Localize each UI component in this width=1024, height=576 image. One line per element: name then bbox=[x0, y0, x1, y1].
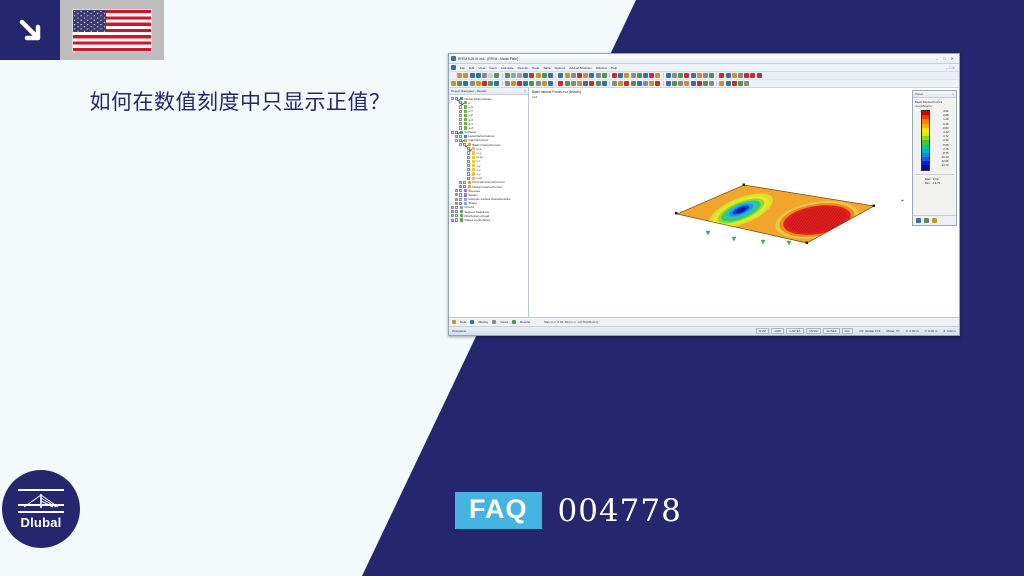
expand-icon[interactable]: + bbox=[451, 219, 454, 222]
faq-footer: FAQ 004778 bbox=[455, 492, 682, 529]
tree-checkbox[interactable] bbox=[459, 193, 462, 196]
status-tab-display[interactable]: Display bbox=[478, 320, 488, 324]
toolbar-button[interactable] bbox=[666, 73, 671, 78]
dlubal-logo: Dlubal bbox=[2, 470, 80, 548]
toolbar-button[interactable] bbox=[691, 81, 696, 86]
toolbar-button[interactable] bbox=[719, 81, 724, 86]
toolbar-button[interactable] bbox=[732, 81, 737, 86]
toolbar-button[interactable] bbox=[505, 81, 510, 86]
slide: 如何在数值刻度中只显示正值？ Dlubal FAQ 004778 RFEM 5.… bbox=[0, 0, 1024, 576]
status-toggle[interactable]: GRID bbox=[771, 328, 784, 334]
tree-checkbox[interactable] bbox=[459, 110, 462, 113]
toolbar-button[interactable] bbox=[624, 81, 629, 86]
menu-item-view[interactable]: View bbox=[478, 66, 485, 70]
status-toggle[interactable]: SNAP bbox=[756, 328, 770, 334]
tree-item[interactable]: +Values on Surfaces bbox=[451, 218, 528, 222]
toolbar-separator bbox=[502, 73, 503, 78]
toolbar-button[interactable] bbox=[666, 81, 671, 86]
toolbar-button[interactable] bbox=[558, 81, 563, 86]
toolbar-button[interactable] bbox=[565, 73, 570, 78]
toolbar-separator bbox=[716, 73, 717, 78]
toolbar-button[interactable] bbox=[596, 81, 601, 86]
toolbar-button[interactable] bbox=[678, 81, 683, 86]
toolbar-button[interactable] bbox=[703, 81, 708, 86]
panel-title: Panel bbox=[915, 92, 923, 96]
status-toggle[interactable]: DXF bbox=[842, 328, 854, 334]
min-label: Min : bbox=[925, 181, 931, 185]
toolbar-button[interactable] bbox=[612, 73, 617, 78]
toolbar-button[interactable] bbox=[505, 73, 510, 78]
arrow-down-right-icon bbox=[15, 15, 45, 45]
toolbar-button[interactable] bbox=[624, 73, 629, 78]
collapse-icon[interactable]: - bbox=[459, 143, 462, 146]
status-coordinate: X: 0.00 m bbox=[906, 329, 919, 333]
status-coordinate: Z: 0.00 m bbox=[943, 329, 956, 333]
close-icon[interactable]: ✕ bbox=[951, 57, 954, 61]
toolbar-button[interactable] bbox=[577, 81, 582, 86]
toolbar-button[interactable] bbox=[542, 73, 547, 78]
data-tab-icon bbox=[452, 320, 456, 324]
expand-icon[interactable]: + bbox=[455, 193, 458, 196]
expand-icon[interactable]: + bbox=[451, 214, 454, 217]
toolbar-button[interactable] bbox=[583, 81, 588, 86]
collapse-icon[interactable]: - bbox=[451, 97, 454, 100]
toolbar-button[interactable] bbox=[463, 81, 468, 86]
toolbar-button[interactable] bbox=[511, 81, 516, 86]
toolbar-button[interactable] bbox=[684, 73, 689, 78]
tree-item-icon bbox=[460, 218, 464, 221]
tree-checkbox[interactable] bbox=[459, 135, 462, 138]
results-tab-icon bbox=[512, 320, 516, 324]
status-bar-tabs[interactable]: Data Display Views Results Max m-x: 4.02… bbox=[449, 317, 959, 326]
tree-checkbox[interactable] bbox=[455, 214, 458, 217]
toolbar-button[interactable] bbox=[649, 73, 654, 78]
menu-item-window[interactable]: Window bbox=[596, 66, 607, 70]
tree-checkbox[interactable] bbox=[455, 206, 458, 209]
display-tab-icon bbox=[470, 320, 474, 324]
color-scale-labels: 4.022.881.28-0.26-0.84-1.42-3.72-4.30-5.… bbox=[933, 110, 949, 171]
toolbar-button[interactable] bbox=[672, 81, 677, 86]
workplane-label: Workplane bbox=[452, 329, 466, 333]
window-controls[interactable]: – □ ✕ bbox=[936, 57, 957, 61]
logo-text: Dlubal bbox=[21, 515, 62, 530]
min-row: Min : -13.70 bbox=[915, 181, 954, 186]
toolbar-button[interactable] bbox=[738, 73, 743, 78]
toolbar-button[interactable] bbox=[589, 73, 594, 78]
tree-item-icon bbox=[464, 110, 468, 113]
toolbar-button[interactable] bbox=[494, 81, 499, 86]
status-coordinate: CS: Global XYZ bbox=[859, 329, 880, 333]
tree-checkbox[interactable] bbox=[463, 185, 466, 188]
expand-icon[interactable]: + bbox=[459, 181, 462, 184]
min-max-box: Max : 4.02 Min : -13.70 bbox=[915, 174, 954, 186]
toolbar-button[interactable] bbox=[536, 81, 541, 86]
faq-number: 004778 bbox=[558, 493, 682, 529]
toolbar-button[interactable] bbox=[602, 73, 607, 78]
tree-item-icon bbox=[464, 189, 468, 192]
flag-badge bbox=[60, 0, 164, 60]
toolbar-button[interactable] bbox=[488, 73, 493, 78]
toolbar-button[interactable] bbox=[596, 73, 601, 78]
toolbar-button[interactable] bbox=[643, 81, 648, 86]
panel-result-unit: m-x [kNm/m] bbox=[915, 104, 954, 108]
toolbar-button[interactable] bbox=[457, 73, 462, 78]
status-tab-results[interactable]: Results bbox=[520, 320, 530, 324]
chart-icon[interactable] bbox=[932, 218, 937, 223]
toolbar-separator bbox=[502, 81, 503, 86]
tree-checkbox[interactable] bbox=[459, 114, 462, 117]
tree-item-icon bbox=[460, 97, 464, 100]
results-panel[interactable]: Panel × Basic Internal Forces m-x [kNm/m… bbox=[912, 90, 957, 226]
model-viewport[interactable]: Basic Internal Forces m-x [kNm/m] LC1 bbox=[529, 88, 959, 317]
tree-item-icon bbox=[472, 164, 476, 167]
tree-item-icon bbox=[472, 156, 476, 159]
toolbar-button[interactable] bbox=[457, 81, 462, 86]
tree-item-icon bbox=[464, 122, 468, 125]
rfem-window: RFEM 5.25.01 x64 - [RFEM - Model Plate] … bbox=[448, 53, 960, 336]
status-tab-data[interactable]: Data bbox=[460, 320, 466, 324]
menu-item-calculate[interactable]: Calculate bbox=[501, 66, 514, 70]
tree-checkbox[interactable] bbox=[455, 218, 458, 221]
toolbar-button[interactable] bbox=[655, 81, 660, 86]
window-title: RFEM 5.25.01 x64 - [RFEM - Model Plate] bbox=[458, 57, 518, 61]
toolbar-button[interactable] bbox=[703, 73, 708, 78]
toolbar-button[interactable] bbox=[655, 73, 660, 78]
expand-icon[interactable]: + bbox=[455, 202, 458, 205]
toolbar-button[interactable] bbox=[618, 73, 623, 78]
color-icon[interactable] bbox=[924, 218, 929, 223]
menu-app-icon bbox=[451, 65, 456, 70]
expand-icon[interactable]: + bbox=[455, 135, 458, 138]
app-body: Project Navigator - Results × -Global De… bbox=[449, 88, 959, 317]
tree-item-icon bbox=[464, 198, 468, 201]
toolbar-separator bbox=[716, 81, 717, 86]
us-flag-icon bbox=[73, 10, 151, 51]
toolbar-button[interactable] bbox=[637, 81, 642, 86]
status-toggles[interactable]: SNAPGRIDCARTESOSNAPGLINESDXF bbox=[756, 328, 854, 334]
toolbar-button[interactable] bbox=[631, 81, 636, 86]
collapse-icon[interactable]: - bbox=[455, 139, 458, 142]
toolbar-button[interactable] bbox=[523, 81, 528, 86]
toolbar-button[interactable] bbox=[691, 73, 696, 78]
toolbar-button[interactable] bbox=[757, 73, 762, 78]
tree-checkbox[interactable] bbox=[467, 160, 470, 163]
arrow-badge bbox=[0, 0, 60, 60]
toolbar-separator bbox=[609, 73, 610, 78]
tree-checkbox[interactable] bbox=[459, 126, 462, 129]
toolbar-button[interactable] bbox=[529, 81, 534, 86]
toolbar-button[interactable] bbox=[618, 81, 623, 86]
toolbar-button[interactable] bbox=[577, 73, 582, 78]
color-scale[interactable]: 4.022.881.28-0.26-0.84-1.42-3.72-4.30-5.… bbox=[915, 110, 954, 171]
navigator-close-icon[interactable]: × bbox=[524, 89, 526, 93]
navigator-header: Project Navigator - Results × bbox=[449, 88, 528, 95]
status-toggle[interactable]: CARTES bbox=[786, 328, 803, 334]
menu-item-tools[interactable]: Tools bbox=[532, 66, 539, 70]
tree-item-icon bbox=[460, 210, 464, 213]
color-scale-segment bbox=[922, 165, 929, 169]
tree-item-icon bbox=[472, 177, 476, 180]
toolbar-button[interactable] bbox=[558, 73, 563, 78]
toolbar-button[interactable] bbox=[744, 81, 749, 86]
toolbar-button[interactable] bbox=[536, 73, 541, 78]
tree-checkbox[interactable] bbox=[459, 198, 462, 201]
status-toggle[interactable]: GLINES bbox=[823, 328, 839, 334]
surface-contour-plot bbox=[529, 88, 954, 317]
expand-icon[interactable]: + bbox=[459, 185, 462, 188]
bridge-truss-icon bbox=[18, 489, 64, 513]
menu-item-insert[interactable]: Insert bbox=[489, 66, 497, 70]
expand-icon[interactable]: + bbox=[451, 210, 454, 213]
toolbar-button[interactable] bbox=[517, 81, 522, 86]
expand-icon[interactable]: + bbox=[451, 206, 454, 209]
toolbar-button[interactable] bbox=[684, 81, 689, 86]
tree-item-icon bbox=[472, 160, 476, 163]
tree-checkbox[interactable] bbox=[467, 147, 470, 150]
project-navigator[interactable]: Project Navigator - Results × -Global De… bbox=[449, 88, 529, 317]
toolbar-button[interactable] bbox=[482, 81, 487, 86]
toolbar-button[interactable] bbox=[494, 73, 499, 78]
toolbar-separator bbox=[609, 81, 610, 86]
status-coordinates: CS: Global XYZPlane: XYX: 0.00 mY: 0.00 … bbox=[859, 329, 956, 333]
tree-checkbox[interactable] bbox=[467, 151, 470, 154]
toolbar-button[interactable] bbox=[517, 73, 522, 78]
status-tab-views[interactable]: Views bbox=[500, 320, 508, 324]
color-scale-bar[interactable] bbox=[921, 110, 930, 171]
tree-checkbox[interactable] bbox=[459, 118, 462, 121]
toolbar-button[interactable] bbox=[672, 73, 677, 78]
maximize-icon[interactable]: □ bbox=[943, 57, 945, 61]
tree-checkbox[interactable] bbox=[459, 139, 462, 142]
panel-body: Basic Internal Forces m-x [kNm/m] 4.022.… bbox=[913, 98, 956, 215]
tree-checkbox[interactable] bbox=[467, 172, 470, 175]
tree-item-icon bbox=[464, 114, 468, 117]
toolbar-button[interactable] bbox=[511, 73, 516, 78]
toolbar-button[interactable] bbox=[451, 73, 456, 78]
tree-checkbox[interactable] bbox=[459, 122, 462, 125]
tree-checkbox[interactable] bbox=[459, 105, 462, 108]
tree-item-icon bbox=[468, 181, 472, 184]
app-icon bbox=[451, 56, 456, 61]
tree-item-icon bbox=[468, 185, 472, 188]
toolbar-button[interactable] bbox=[726, 73, 731, 78]
toolbar-button[interactable] bbox=[631, 73, 636, 78]
status-toggle[interactable]: OSNAP bbox=[806, 328, 822, 334]
tree-checkbox[interactable] bbox=[467, 168, 470, 171]
tree-checkbox[interactable] bbox=[463, 143, 466, 146]
tree-item-icon bbox=[460, 206, 464, 209]
toolbar-button[interactable] bbox=[678, 73, 683, 78]
panel-close-icon[interactable]: × bbox=[952, 92, 954, 96]
menu-item-addon-modules[interactable]: Add-on Modules bbox=[569, 66, 592, 70]
toolbar-button[interactable] bbox=[719, 73, 724, 78]
menu-item-file[interactable]: File bbox=[460, 66, 465, 70]
tree-checkbox[interactable] bbox=[459, 189, 462, 192]
tree-checkbox[interactable] bbox=[463, 181, 466, 184]
status-bar[interactable]: Workplane SNAPGRIDCARTESOSNAPGLINESDXF C… bbox=[449, 326, 959, 334]
toolbar-button[interactable] bbox=[476, 73, 481, 78]
toolbar-button[interactable] bbox=[482, 73, 487, 78]
toolbar-button[interactable] bbox=[529, 73, 534, 78]
tree-item-icon bbox=[460, 214, 464, 217]
toolbar-button[interactable] bbox=[709, 73, 714, 78]
tree-item-icon bbox=[464, 118, 468, 121]
toolbar-button[interactable] bbox=[732, 73, 737, 78]
max-value: 4.02 bbox=[933, 177, 939, 181]
navigator-tree[interactable]: -Global Deformationsuu-Xu-Yu-Zφ-Xφ-Yφ-Z-… bbox=[449, 95, 528, 222]
toolbar-button[interactable] bbox=[542, 81, 547, 86]
toolbar-button[interactable] bbox=[523, 73, 528, 78]
status-coordinate: Plane: XY bbox=[886, 329, 899, 333]
expand-icon[interactable]: + bbox=[455, 198, 458, 201]
max-label: Max : bbox=[925, 177, 932, 181]
toolbar-primary[interactable] bbox=[449, 72, 959, 80]
faq-badge: FAQ bbox=[455, 492, 542, 529]
tree-checkbox[interactable] bbox=[459, 202, 462, 205]
status-coordinate: Y: 0.00 m bbox=[925, 329, 938, 333]
minimize-icon[interactable]: – bbox=[936, 57, 938, 61]
menu-item-table[interactable]: Table bbox=[543, 66, 550, 70]
toolbar-button[interactable] bbox=[571, 73, 576, 78]
menu-item-help[interactable]: Help bbox=[611, 66, 617, 70]
toolbar-button[interactable] bbox=[488, 81, 493, 86]
expand-icon[interactable]: + bbox=[455, 189, 458, 192]
toolbar-button[interactable] bbox=[744, 73, 749, 78]
tree-checkbox[interactable] bbox=[459, 101, 462, 104]
toolbar-button[interactable] bbox=[709, 81, 714, 86]
toolbar-button[interactable] bbox=[649, 81, 654, 86]
tree-item-icon bbox=[464, 135, 468, 138]
tree-item-icon bbox=[472, 147, 476, 150]
min-value: -13.70 bbox=[932, 181, 940, 185]
tree-checkbox[interactable] bbox=[455, 210, 458, 213]
toolbar-button[interactable] bbox=[583, 73, 588, 78]
toolbar-separator bbox=[555, 81, 556, 86]
panel-footer[interactable] bbox=[913, 215, 956, 225]
menu-item-options[interactable]: Options bbox=[555, 66, 566, 70]
panel-header: Panel × bbox=[913, 91, 956, 98]
page-title: 如何在数值刻度中只显示正值？ bbox=[60, 86, 420, 116]
mdi-controls[interactable]: – □ ✕ bbox=[946, 66, 957, 70]
tree-checkbox[interactable] bbox=[467, 177, 470, 180]
toolbar-button[interactable] bbox=[470, 73, 475, 78]
toolbar-button[interactable] bbox=[612, 81, 617, 86]
toolbar-button[interactable] bbox=[548, 73, 553, 78]
views-tab-icon bbox=[492, 320, 496, 324]
pointer-cursor-icon: ⌖ bbox=[901, 198, 904, 204]
toolbar-button[interactable] bbox=[565, 81, 570, 86]
tree-checkbox[interactable] bbox=[455, 97, 458, 100]
toolbar-button[interactable] bbox=[643, 73, 648, 78]
toolbar-button[interactable] bbox=[637, 73, 642, 78]
toolbar-button[interactable] bbox=[571, 81, 576, 86]
toolbar-button[interactable] bbox=[726, 81, 731, 86]
collapse-icon[interactable]: - bbox=[451, 131, 454, 134]
navigator-title: Project Navigator - Results bbox=[451, 89, 487, 93]
toolbar-secondary[interactable] bbox=[449, 80, 959, 88]
tree-item-icon bbox=[464, 202, 468, 205]
toolbar-button[interactable] bbox=[697, 73, 702, 78]
tree-item-label: Values on Surfaces bbox=[464, 218, 490, 222]
toolbar-button[interactable] bbox=[470, 81, 475, 86]
toolbar-button[interactable] bbox=[476, 81, 481, 86]
tree-item-icon bbox=[468, 143, 472, 146]
menu-item-results[interactable]: Results bbox=[518, 66, 528, 70]
toolbar-button[interactable] bbox=[548, 81, 553, 86]
menu-bar[interactable]: File Edit View Insert Calculate Results … bbox=[449, 64, 959, 72]
tree-checkbox[interactable] bbox=[467, 164, 470, 167]
tree-checkbox[interactable] bbox=[455, 131, 458, 134]
toolbar-button[interactable] bbox=[589, 81, 594, 86]
tree-checkbox[interactable] bbox=[467, 156, 470, 159]
toolbar-button[interactable] bbox=[750, 73, 755, 78]
toolbar-button[interactable] bbox=[738, 81, 743, 86]
toolbar-button[interactable] bbox=[602, 81, 607, 86]
toolbar-button[interactable] bbox=[451, 81, 456, 86]
toolbar-separator bbox=[663, 81, 664, 86]
toolbar-separator bbox=[555, 73, 556, 78]
toolbar-separator bbox=[663, 73, 664, 78]
toolbar-button[interactable] bbox=[463, 73, 468, 78]
table-icon[interactable] bbox=[916, 218, 921, 223]
color-scale-value: -13.70 bbox=[933, 164, 949, 168]
menu-item-edit[interactable]: Edit bbox=[469, 66, 474, 70]
window-titlebar: RFEM 5.25.01 x64 - [RFEM - Model Plate] … bbox=[449, 54, 959, 64]
toolbar-button[interactable] bbox=[697, 81, 702, 86]
status-message: Max m-x: 4.02, Min m-x: -13.70 [kNm/m] bbox=[544, 320, 598, 324]
